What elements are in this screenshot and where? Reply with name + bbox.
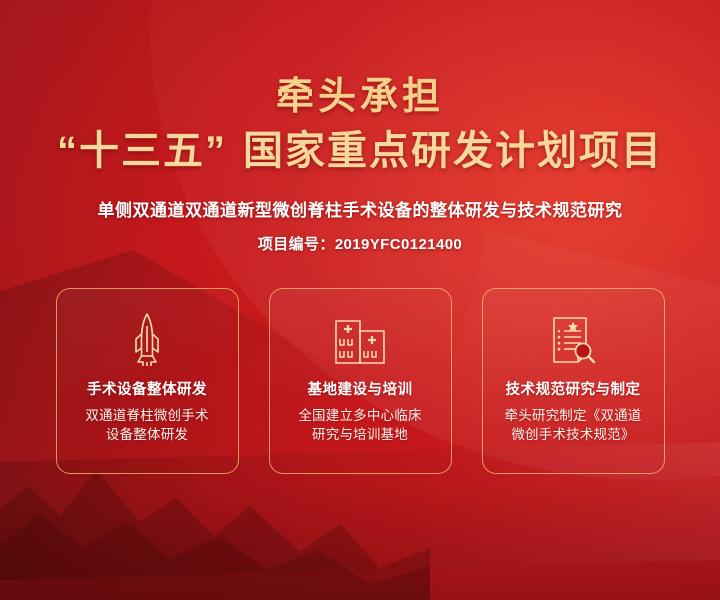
promo-banner: 牵头承担 “十三五”国家重点研发计划项目 单侧双通道双通道新型微创脊柱手术设备的… — [0, 0, 720, 600]
rocket-icon — [128, 311, 166, 369]
card-description-line: 微创手术技术规范》 — [494, 425, 652, 445]
feature-card-training-base[interactable]: 基地建设与培训 全国建立多中心临床 研究与培训基地 — [269, 288, 452, 474]
page-subtitle: “十三五”国家重点研发计划项目 — [0, 128, 720, 174]
card-description: 牵头研究制定《双通道 微创手术技术规范》 — [494, 406, 652, 445]
project-code: 项目编号：2019YFC0121400 — [0, 233, 720, 254]
card-description-line: 研究与培训基地 — [281, 425, 439, 445]
page-subtitle-quoted: “十三五” — [57, 129, 227, 173]
card-description: 全国建立多中心临床 研究与培训基地 — [281, 406, 439, 445]
card-title: 技术规范研究与制定 — [506, 378, 641, 399]
page-title: 牵头承担 — [0, 78, 720, 118]
document-magnifier-icon — [548, 311, 598, 369]
card-description-line: 双通道脊柱微创手术 — [68, 406, 226, 426]
banner-heading-block: 牵头承担 “十三五”国家重点研发计划项目 单侧双通道双通道新型微创脊柱手术设备的… — [0, 0, 720, 254]
page-subtitle-rest: 国家重点研发计划项目 — [243, 129, 663, 173]
background-bottom-shade — [0, 480, 720, 600]
feature-card-equipment[interactable]: 手术设备整体研发 双通道脊柱微创手术 设备整体研发 — [56, 288, 239, 474]
card-title: 基地建设与培训 — [308, 378, 413, 399]
project-description: 单侧双通道双通道新型微创脊柱手术设备的整体研发与技术规范研究 — [0, 196, 720, 221]
card-title: 手术设备整体研发 — [87, 378, 207, 399]
card-description: 双通道脊柱微创手术 设备整体研发 — [68, 406, 226, 445]
card-description-line: 设备整体研发 — [68, 425, 226, 445]
hospital-building-icon — [333, 311, 387, 369]
feature-card-standards[interactable]: 技术规范研究与制定 牵头研究制定《双通道 微创手术技术规范》 — [482, 288, 665, 474]
card-description-line: 牵头研究制定《双通道 — [494, 406, 652, 426]
feature-card-list: 手术设备整体研发 双通道脊柱微创手术 设备整体研发 基地建设与培训 — [0, 288, 720, 474]
card-description-line: 全国建立多中心临床 — [281, 406, 439, 426]
